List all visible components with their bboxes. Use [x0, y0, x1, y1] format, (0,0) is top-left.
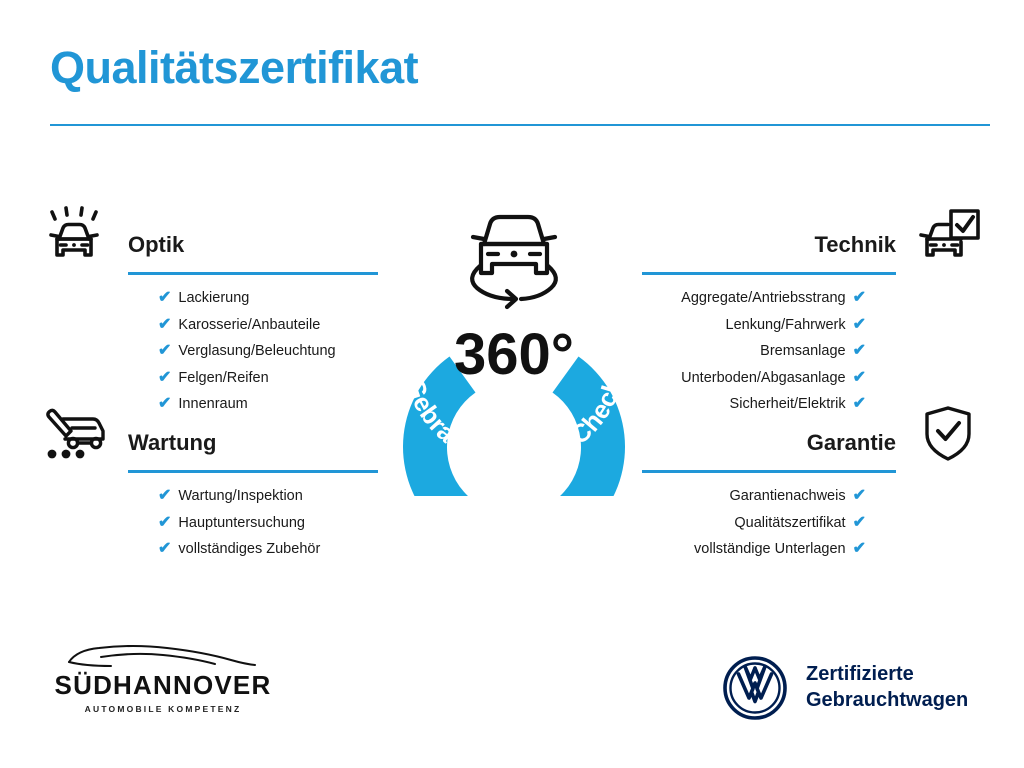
list-item-label: vollständiges Zubehör: [178, 542, 320, 557]
check-icon: ✔: [853, 541, 866, 557]
badge-center-label: 360°: [454, 322, 574, 387]
section-optik-title: Optik: [128, 234, 184, 256]
section-wartung-header: Wartung: [28, 398, 388, 476]
list-item-label: Karosserie/Anbauteile: [178, 318, 320, 333]
check-icon: ✔: [158, 515, 171, 531]
car-service-tools-icon: [38, 398, 114, 470]
list-item: ✔ Garantienachweis: [630, 488, 866, 504]
car-front-rotation-icon: [472, 217, 556, 307]
list-item-label: Qualitätszertifikat: [734, 516, 845, 531]
car-shine-icon: [38, 200, 114, 272]
brand-logo-text: Zertifizierte Gebrauchtwagen: [806, 662, 968, 713]
list-item-label: Verglasung/Beleuchtung: [178, 344, 335, 359]
vw-logo-icon: [722, 655, 788, 721]
section-garantie-list: ✔ Garantienachweis ✔ Qualitätszertifikat…: [630, 488, 996, 557]
brand-logo-line2: Gebrauchtwagen: [806, 688, 968, 714]
shield-check-icon: [910, 398, 986, 470]
list-item-label: Garantienachweis: [730, 489, 846, 504]
section-technik-title: Technik: [814, 234, 896, 256]
section-optik: Optik ✔ Lackierung ✔ Karosserie/Anbautei…: [28, 200, 388, 423]
section-wartung-divider: [128, 470, 378, 473]
car-silhouette-icon: [63, 640, 263, 670]
page-title: Qualitätszertifikat: [50, 44, 990, 91]
list-item-label: Lackierung: [178, 291, 249, 306]
check-icon: ✔: [158, 317, 171, 333]
check-icon: ✔: [853, 515, 866, 531]
check-icon: ✔: [853, 290, 866, 306]
header-divider: [50, 124, 990, 126]
list-item-label: Hauptuntersuchung: [178, 516, 305, 531]
dealer-logo: SÜDHANNOVER AUTOMOBILE KOMPETENZ: [48, 640, 278, 730]
section-garantie-header: Garantie: [630, 398, 996, 476]
list-item-label: Bremsanlage: [760, 344, 845, 359]
section-technik-header: Technik: [630, 200, 996, 278]
section-garantie-title: Garantie: [807, 432, 896, 454]
check-icon: ✔: [853, 488, 866, 504]
check-icon: ✔: [158, 343, 171, 359]
list-item-label: Wartung/Inspektion: [178, 489, 302, 504]
list-item: ✔ Aggregate/Antriebsstrang: [630, 290, 866, 306]
list-item: ✔ Hauptuntersuchung: [158, 515, 388, 531]
dealer-logo-name: SÜDHANNOVER: [48, 672, 278, 698]
list-item: ✔ Unterboden/Abgasanlage: [630, 370, 866, 386]
section-garantie-divider: [642, 470, 896, 473]
section-wartung-title: Wartung: [128, 432, 216, 454]
section-optik-divider: [128, 272, 378, 275]
check-icon: ✔: [158, 488, 171, 504]
list-item: ✔ Karosserie/Anbauteile: [158, 317, 388, 333]
list-item: ✔ Lenkung/Fahrwerk: [630, 317, 866, 333]
check-icon: ✔: [158, 290, 171, 306]
360-check-badge: Gebrauchtwagen-Check 360°: [374, 196, 654, 496]
check-icon: ✔: [853, 343, 866, 359]
page-header: Qualitätszertifikat: [50, 44, 990, 126]
section-technik: Technik ✔ Aggregate/Antriebsstrang ✔ Len…: [630, 200, 996, 423]
section-technik-divider: [642, 272, 896, 275]
section-wartung: Wartung ✔ Wartung/Inspektion ✔ Hauptunte…: [28, 398, 388, 568]
brand-logo: Zertifizierte Gebrauchtwagen: [722, 648, 992, 728]
car-checkbox-icon: [910, 200, 986, 272]
list-item: ✔ Bremsanlage: [630, 343, 866, 359]
list-item: ✔ Qualitätszertifikat: [630, 515, 866, 531]
section-optik-list: ✔ Lackierung ✔ Karosserie/Anbauteile ✔ V…: [28, 290, 388, 412]
section-optik-header: Optik: [28, 200, 388, 278]
list-item: ✔ Lackierung: [158, 290, 388, 306]
list-item: ✔ vollständige Unterlagen: [630, 541, 866, 557]
list-item: ✔ Wartung/Inspektion: [158, 488, 388, 504]
list-item: ✔ Verglasung/Beleuchtung: [158, 343, 388, 359]
list-item-label: Unterboden/Abgasanlage: [681, 371, 845, 386]
check-icon: ✔: [853, 370, 866, 386]
list-item: ✔ Felgen/Reifen: [158, 370, 388, 386]
list-item-label: Felgen/Reifen: [178, 371, 268, 386]
section-garantie: Garantie ✔ Garantienachweis ✔ Qualitätsz…: [630, 398, 996, 568]
check-icon: ✔: [853, 317, 866, 333]
list-item-label: Lenkung/Fahrwerk: [726, 318, 846, 333]
section-technik-list: ✔ Aggregate/Antriebsstrang ✔ Lenkung/Fah…: [630, 290, 996, 412]
brand-logo-line1: Zertifizierte: [806, 662, 968, 688]
check-icon: ✔: [158, 541, 171, 557]
certificate-page: Qualitätszertifikat Optik ✔: [0, 0, 1024, 768]
check-icon: ✔: [158, 370, 171, 386]
list-item-label: vollständige Unterlagen: [694, 542, 846, 557]
section-wartung-list: ✔ Wartung/Inspektion ✔ Hauptuntersuchung…: [28, 488, 388, 557]
list-item-label: Aggregate/Antriebsstrang: [681, 291, 845, 306]
dealer-logo-tagline: AUTOMOBILE KOMPETENZ: [48, 704, 278, 714]
list-item: ✔ vollständiges Zubehör: [158, 541, 388, 557]
